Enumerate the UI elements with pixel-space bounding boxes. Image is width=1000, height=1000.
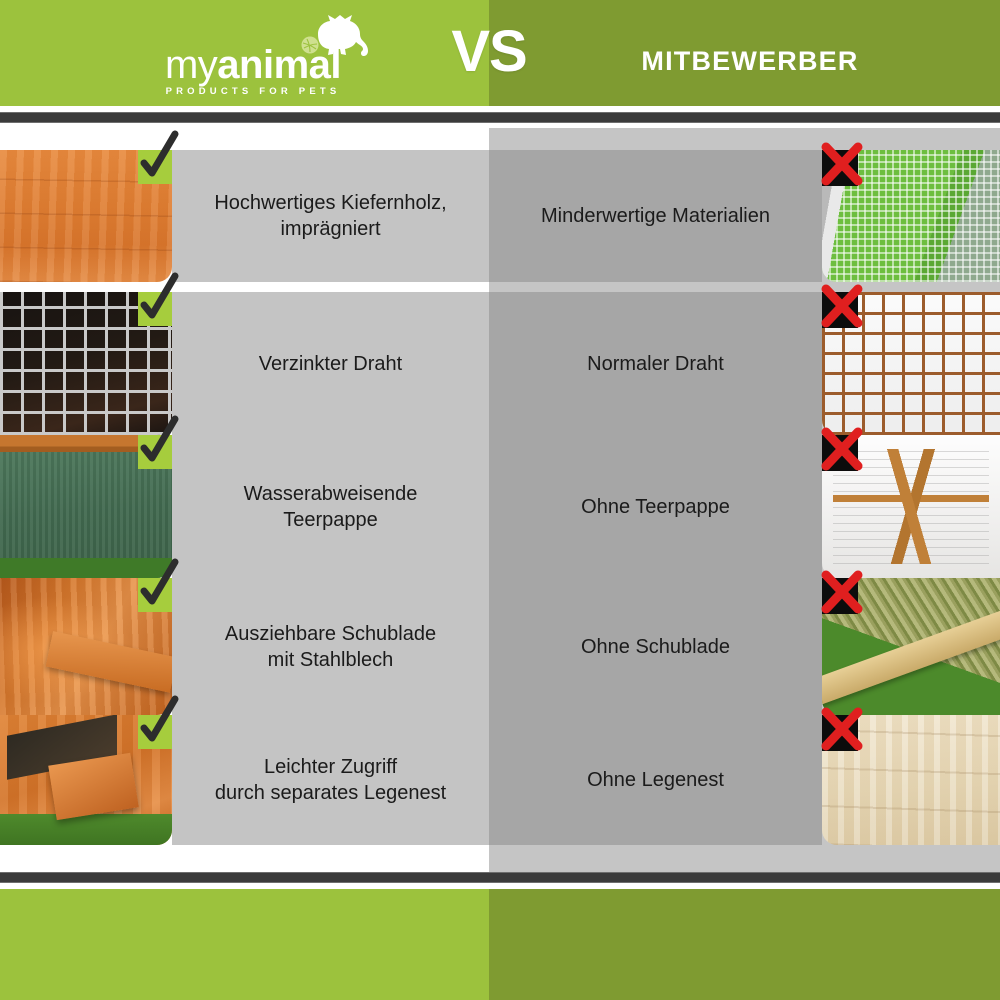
x-icon — [813, 139, 869, 193]
vs-label: VS — [409, 18, 569, 85]
competitor-feature-text: Normaler Draht — [489, 292, 822, 435]
brand-wordmark: myanimal — [128, 44, 378, 86]
check-icon — [136, 561, 178, 613]
brand-tagline: PRODUCTS FOR PETS — [128, 86, 378, 97]
check-icon — [136, 133, 178, 185]
divider-bottom — [0, 872, 1000, 883]
footer-competitor-band — [489, 889, 1000, 1000]
check-icon — [136, 275, 178, 327]
x-badge — [822, 435, 858, 471]
x-icon — [813, 424, 869, 478]
x-icon — [813, 567, 869, 621]
own-feature-text: Ausziehbare Schublade mit Stahlblech — [172, 578, 489, 715]
divider-top — [0, 112, 1000, 123]
x-badge — [822, 715, 858, 751]
brand-name-bold: animal — [217, 43, 341, 87]
own-feature-text: Wasserabweisende Teerpappe — [172, 435, 489, 578]
check-badge — [138, 578, 172, 612]
own-feature-text: Hochwertiges Kiefernholz, imprägniert — [172, 150, 489, 282]
x-icon — [813, 281, 869, 335]
x-badge — [822, 292, 858, 328]
comparison-row: Ausziehbare Schublade mit StahlblechOhne… — [0, 578, 1000, 715]
brand-logo: myanimal PRODUCTS FOR PETS — [128, 14, 378, 96]
own-feature-text: Verzinkter Draht — [172, 292, 489, 435]
competitor-feature-text: Minderwertige Materialien — [489, 150, 822, 282]
header: myanimal PRODUCTS FOR PETS VS MITBEWERBE… — [0, 0, 1000, 106]
check-icon — [136, 698, 178, 750]
competitor-feature-text: Ohne Schublade — [489, 578, 822, 715]
x-icon — [813, 704, 869, 758]
own-feature-text: Leichter Zugriff durch separates Legenes… — [172, 715, 489, 845]
competitor-title: MITBEWERBER — [575, 46, 925, 77]
comparison-row: Leichter Zugriff durch separates Legenes… — [0, 715, 1000, 845]
x-badge — [822, 578, 858, 614]
footer-brand-band — [0, 889, 489, 1000]
brand-name-light: my — [165, 43, 217, 87]
competitor-feature-text: Ohne Legenest — [489, 715, 822, 845]
check-badge — [138, 435, 172, 469]
check-badge — [138, 292, 172, 326]
check-badge — [138, 715, 172, 749]
comparison-row: Verzinkter DrahtNormaler Draht — [0, 292, 1000, 435]
x-badge — [822, 150, 858, 186]
comparison-infographic: myanimal PRODUCTS FOR PETS VS MITBEWERBE… — [0, 0, 1000, 1000]
competitor-feature-text: Ohne Teerpappe — [489, 435, 822, 578]
comparison-row: Wasserabweisende TeerpappeOhne Teerpappe — [0, 435, 1000, 578]
check-icon — [136, 418, 178, 470]
check-badge — [138, 150, 172, 184]
comparison-row: Hochwertiges Kiefernholz, imprägniertMin… — [0, 150, 1000, 282]
